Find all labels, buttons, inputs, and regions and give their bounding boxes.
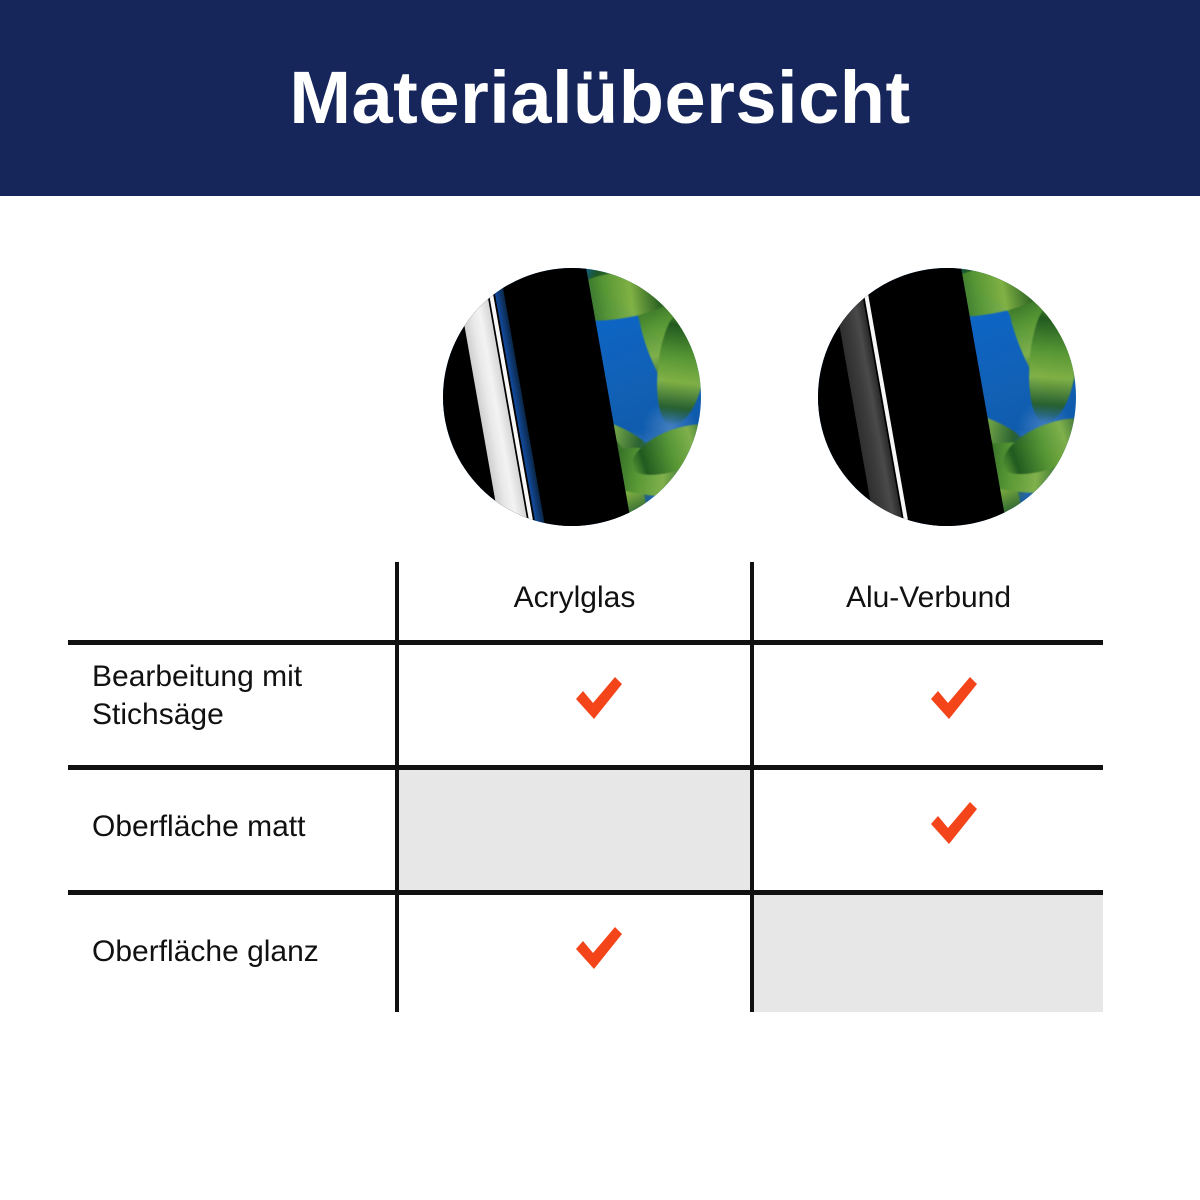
row-label-bearbeitung-mit-stichsaege: Bearbeitung mit Stichsäge	[92, 658, 387, 733]
thumbnail-alu-verbund[interactable]	[818, 268, 1076, 526]
page-header: Materialübersicht	[0, 0, 1200, 196]
material-overview-page: Materialübersicht	[0, 0, 1200, 1200]
column-header-acrylglas: Acrylglas	[399, 580, 750, 616]
check-icon	[926, 672, 982, 728]
material-comparison-table: Acrylglas Alu-Verbund Bearbeitung mit St…	[68, 562, 1103, 1012]
thumbnail-acrylglas[interactable]	[443, 268, 701, 526]
table-rule-vertical	[750, 562, 754, 1012]
table-rule-vertical	[395, 562, 399, 1012]
panel-edge-acrylglas	[443, 268, 701, 526]
row-label-oberflaeche-matt: Oberfläche matt	[92, 808, 387, 846]
thumbnail-row	[0, 268, 1200, 526]
page-title: Materialübersicht	[289, 61, 910, 135]
check-icon	[571, 672, 627, 728]
check-icon	[926, 797, 982, 853]
column-header-alu-verbund: Alu-Verbund	[754, 580, 1103, 616]
panel-edge-alu-verbund	[818, 268, 1076, 526]
row-label-oberflaeche-glanz: Oberfläche glanz	[92, 933, 387, 971]
check-icon	[571, 922, 627, 978]
palm-tree-photo-alu-verbund	[818, 268, 1076, 526]
table-rule-horizontal	[68, 765, 1103, 770]
table-rule-horizontal	[68, 890, 1103, 895]
palm-tree-photo-acrylglas	[443, 268, 701, 526]
table-rule-horizontal	[68, 640, 1103, 645]
